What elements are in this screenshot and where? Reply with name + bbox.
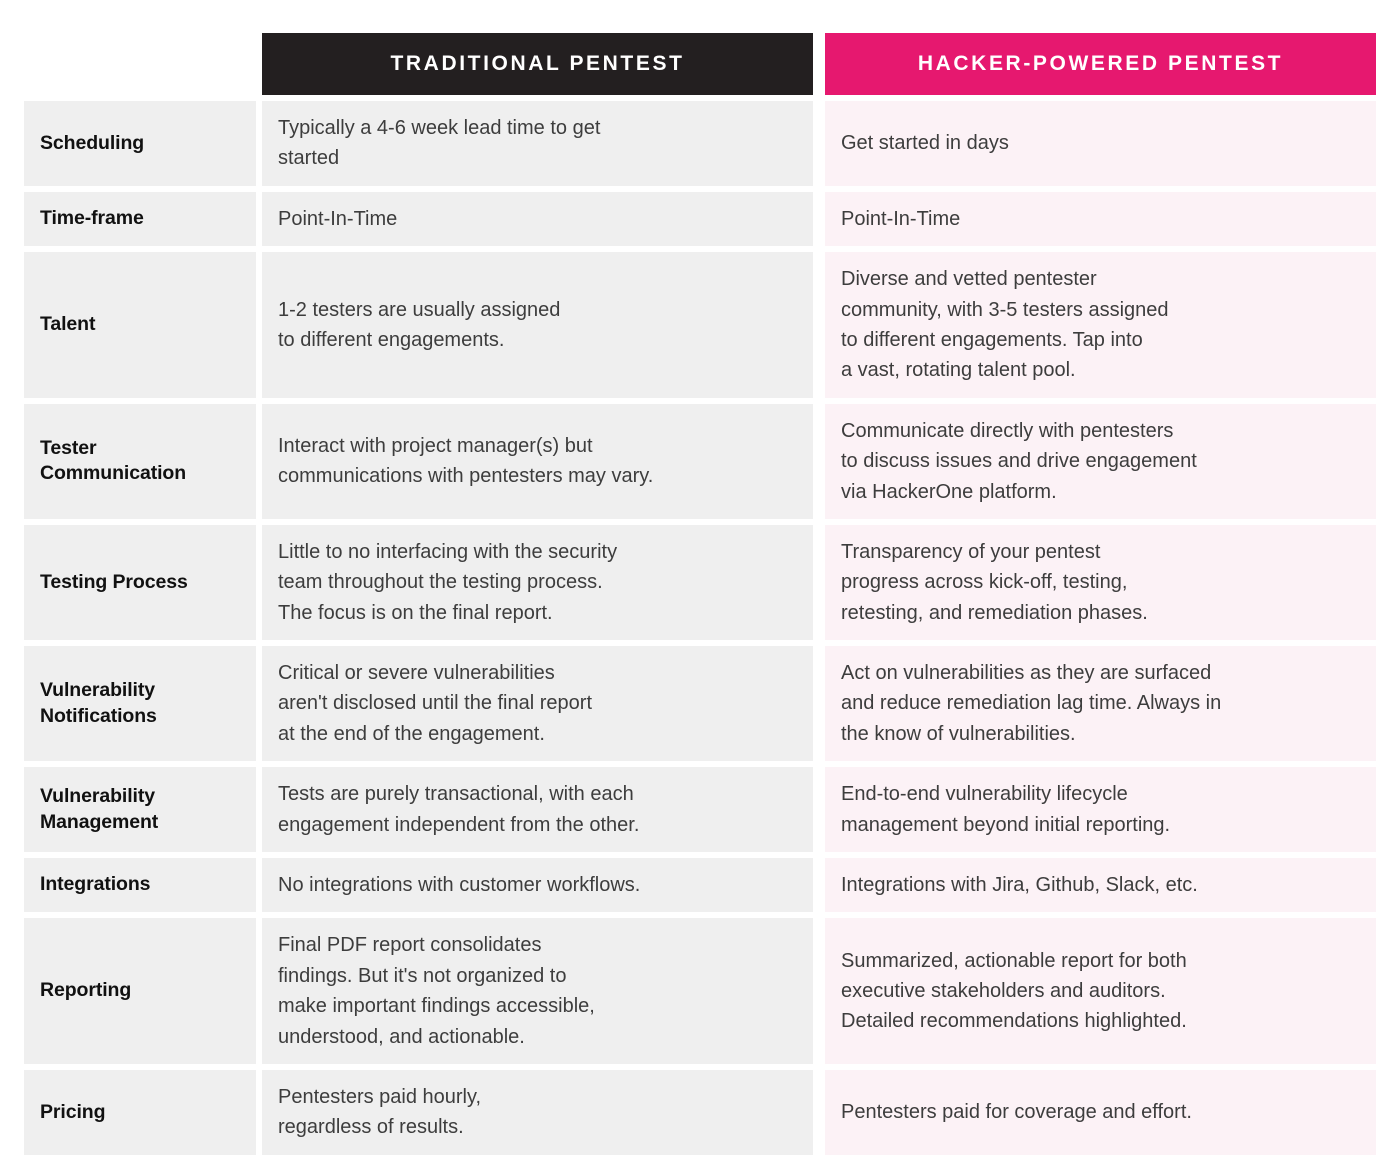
cell-traditional-pentest: Critical or severe vulnerabilitiesaren't… <box>262 646 813 761</box>
cell-text-line: aren't disclosed until the final report <box>278 688 793 718</box>
cell-traditional-pentest: Point-In-Time <box>262 192 813 246</box>
cell-hacker-powered-pentest: Act on vulnerabilities as they are surfa… <box>825 646 1376 761</box>
cell-text-line: Interact with project manager(s) but <box>278 431 793 461</box>
column-gap <box>813 767 825 852</box>
cell-text-line: Integrations with Jira, Github, Slack, e… <box>841 870 1356 900</box>
cell-hacker-powered-pentest: Point-In-Time <box>825 192 1376 246</box>
row-label: Pricing <box>24 1070 256 1155</box>
row-label: Reporting <box>24 918 256 1064</box>
cell-text-line: started <box>278 143 793 173</box>
cell-text-line: engagement independent from the other. <box>278 810 793 840</box>
row-label: Talent <box>24 252 256 398</box>
cell-text-line: via HackerOne platform. <box>841 477 1356 507</box>
column-gap <box>813 192 825 246</box>
cell-hacker-powered-pentest: Get started in days <box>825 101 1376 186</box>
cell-traditional-pentest: Interact with project manager(s) butcomm… <box>262 404 813 519</box>
cell-text-line: Transparency of your pentest <box>841 537 1356 567</box>
table-body: SchedulingTypically a 4-6 week lead time… <box>0 101 1400 1155</box>
cell-text-line: Diverse and vetted pentester <box>841 264 1356 294</box>
cell-text-line: Final PDF report consolidates <box>278 930 793 960</box>
cell-text-line: Act on vulnerabilities as they are surfa… <box>841 658 1356 688</box>
row-label: Testing Process <box>24 525 256 640</box>
cell-traditional-pentest: Pentesters paid hourly,regardless of res… <box>262 1070 813 1155</box>
cell-text-line: End-to-end vulnerability lifecycle <box>841 779 1356 809</box>
cell-hacker-powered-pentest: Summarized, actionable report for bothex… <box>825 918 1376 1064</box>
row-label: Vulnerability Management <box>24 767 256 852</box>
cell-hacker-powered-pentest: End-to-end vulnerability lifecyclemanage… <box>825 767 1376 852</box>
cell-text-line: Critical or severe vulnerabilities <box>278 658 793 688</box>
cell-text-line: Typically a 4-6 week lead time to get <box>278 113 793 143</box>
column-gap <box>813 525 825 640</box>
row-label: Integrations <box>24 858 256 912</box>
cell-text-line: the know of vulnerabilities. <box>841 719 1356 749</box>
cell-text-line: Little to no interfacing with the securi… <box>278 537 793 567</box>
table-row: Tester CommunicationInteract with projec… <box>24 404 1376 519</box>
cell-traditional-pentest: No integrations with customer workflows. <box>262 858 813 912</box>
cell-text-line: community, with 3-5 testers assigned <box>841 295 1356 325</box>
cell-hacker-powered-pentest: Communicate directly with pentestersto d… <box>825 404 1376 519</box>
cell-traditional-pentest: Typically a 4-6 week lead time to getsta… <box>262 101 813 186</box>
table-row: Vulnerability NotificationsCritical or s… <box>24 646 1376 761</box>
cell-text-line: Point-In-Time <box>841 204 1356 234</box>
cell-text-line: No integrations with customer workflows. <box>278 870 793 900</box>
cell-text-line: Detailed recommendations highlighted. <box>841 1006 1356 1036</box>
cell-text-line: at the end of the engagement. <box>278 719 793 749</box>
cell-hacker-powered-pentest: Transparency of your pentestprogress acr… <box>825 525 1376 640</box>
cell-text-line: communications with pentesters may vary. <box>278 461 793 491</box>
cell-text-line: to different engagements. <box>278 325 793 355</box>
row-label: Tester Communication <box>24 404 256 519</box>
cell-text-line: Get started in days <box>841 128 1356 158</box>
cell-text-line: a vast, rotating talent pool. <box>841 355 1356 385</box>
table-row: PricingPentesters paid hourly,regardless… <box>24 1070 1376 1155</box>
cell-text-line: to different engagements. Tap into <box>841 325 1356 355</box>
cell-text-line: The focus is on the final report. <box>278 598 793 628</box>
cell-text-line: Communicate directly with pentesters <box>841 416 1356 446</box>
table-row: SchedulingTypically a 4-6 week lead time… <box>24 101 1376 186</box>
row-label: Vulnerability Notifications <box>24 646 256 761</box>
cell-traditional-pentest: Tests are purely transactional, with eac… <box>262 767 813 852</box>
cell-text-line: regardless of results. <box>278 1112 793 1142</box>
cell-text-line: executive stakeholders and auditors. <box>841 976 1356 1006</box>
row-label: Scheduling <box>24 101 256 186</box>
cell-text-line: retesting, and remediation phases. <box>841 598 1356 628</box>
cell-text-line: make important findings accessible, <box>278 991 793 1021</box>
header-label-spacer <box>24 33 256 95</box>
cell-traditional-pentest: 1-2 testers are usually assignedto diffe… <box>262 252 813 398</box>
table-row: Time-framePoint-In-TimePoint-In-Time <box>24 192 1376 246</box>
cell-traditional-pentest: Final PDF report consolidatesfindings. B… <box>262 918 813 1064</box>
column-gap <box>813 858 825 912</box>
cell-text-line: progress across kick-off, testing, <box>841 567 1356 597</box>
table-row: IntegrationsNo integrations with custome… <box>24 858 1376 912</box>
table-row: Talent1-2 testers are usually assignedto… <box>24 252 1376 398</box>
comparison-table: TRADITIONAL PENTEST HACKER-POWERED PENTE… <box>0 33 1400 1147</box>
header-gap-middle <box>813 33 825 95</box>
column-gap <box>813 252 825 398</box>
table-row: Testing ProcessLittle to no interfacing … <box>24 525 1376 640</box>
table-header-row: TRADITIONAL PENTEST HACKER-POWERED PENTE… <box>0 33 1400 95</box>
row-label: Time-frame <box>24 192 256 246</box>
cell-hacker-powered-pentest: Diverse and vetted pentestercommunity, w… <box>825 252 1376 398</box>
cell-text-line: findings. But it's not organized to <box>278 961 793 991</box>
cell-traditional-pentest: Little to no interfacing with the securi… <box>262 525 813 640</box>
column-gap <box>813 646 825 761</box>
column-gap <box>813 404 825 519</box>
cell-hacker-powered-pentest: Integrations with Jira, Github, Slack, e… <box>825 858 1376 912</box>
column-gap <box>813 1070 825 1155</box>
cell-text-line: 1-2 testers are usually assigned <box>278 295 793 325</box>
cell-text-line: team throughout the testing process. <box>278 567 793 597</box>
cell-text-line: Pentesters paid for coverage and effort. <box>841 1097 1356 1127</box>
cell-text-line: Pentesters paid hourly, <box>278 1082 793 1112</box>
table-row: ReportingFinal PDF report consolidatesfi… <box>24 918 1376 1064</box>
cell-text-line: Tests are purely transactional, with eac… <box>278 779 793 809</box>
cell-text-line: management beyond initial reporting. <box>841 810 1356 840</box>
column-header-traditional-pentest: TRADITIONAL PENTEST <box>262 33 813 95</box>
cell-hacker-powered-pentest: Pentesters paid for coverage and effort. <box>825 1070 1376 1155</box>
table-row: Vulnerability ManagementTests are purely… <box>24 767 1376 852</box>
cell-text-line: and reduce remediation lag time. Always … <box>841 688 1356 718</box>
cell-text-line: Summarized, actionable report for both <box>841 946 1356 976</box>
column-gap <box>813 101 825 186</box>
cell-text-line: to discuss issues and drive engagement <box>841 446 1356 476</box>
column-gap <box>813 918 825 1064</box>
cell-text-line: Point-In-Time <box>278 204 793 234</box>
cell-text-line: understood, and actionable. <box>278 1022 793 1052</box>
column-header-hacker-powered-pentest: HACKER-POWERED PENTEST <box>825 33 1376 95</box>
